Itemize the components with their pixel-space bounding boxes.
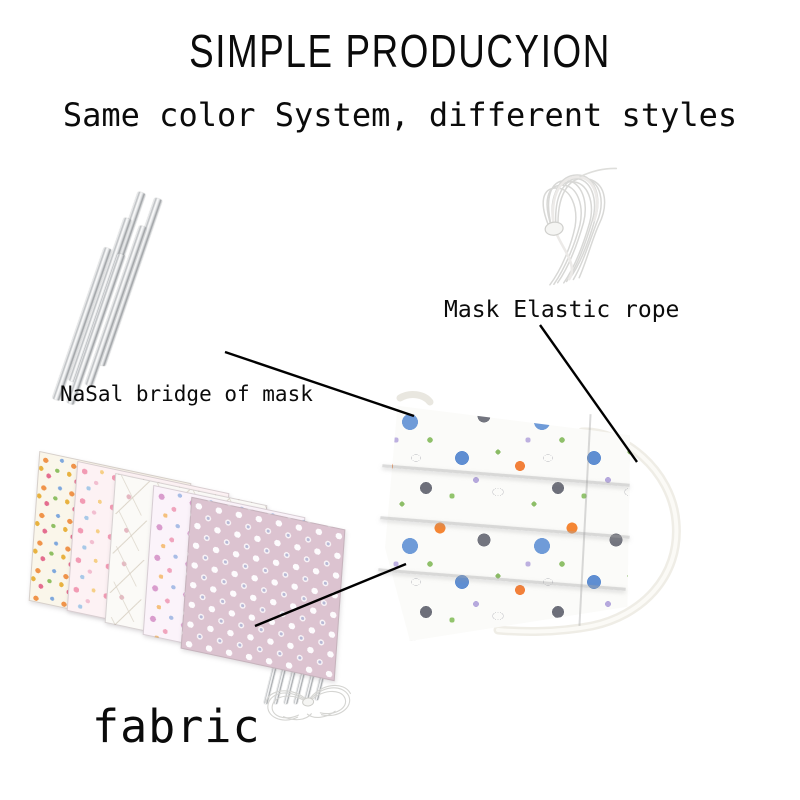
finished-mask bbox=[368, 386, 638, 656]
label-nose-bridge: NaSal bridge of mask bbox=[60, 382, 313, 406]
fabric-swatch bbox=[181, 497, 346, 681]
elastic-rope-illustration bbox=[477, 160, 642, 295]
label-fabric: fabric bbox=[92, 700, 261, 753]
page-title: SIMPLE PRODUCYION bbox=[80, 24, 720, 78]
fabric-swatch-stack bbox=[34, 466, 334, 696]
product-infographic: SIMPLE PRODUCYION Same color System, dif… bbox=[0, 0, 800, 800]
nose-bridge-wire-group bbox=[82, 192, 292, 382]
page-subtitle: Same color System, different styles bbox=[0, 96, 800, 134]
elastic-rope-hank bbox=[477, 160, 642, 295]
label-elastic-rope: Mask Elastic rope bbox=[444, 297, 679, 323]
